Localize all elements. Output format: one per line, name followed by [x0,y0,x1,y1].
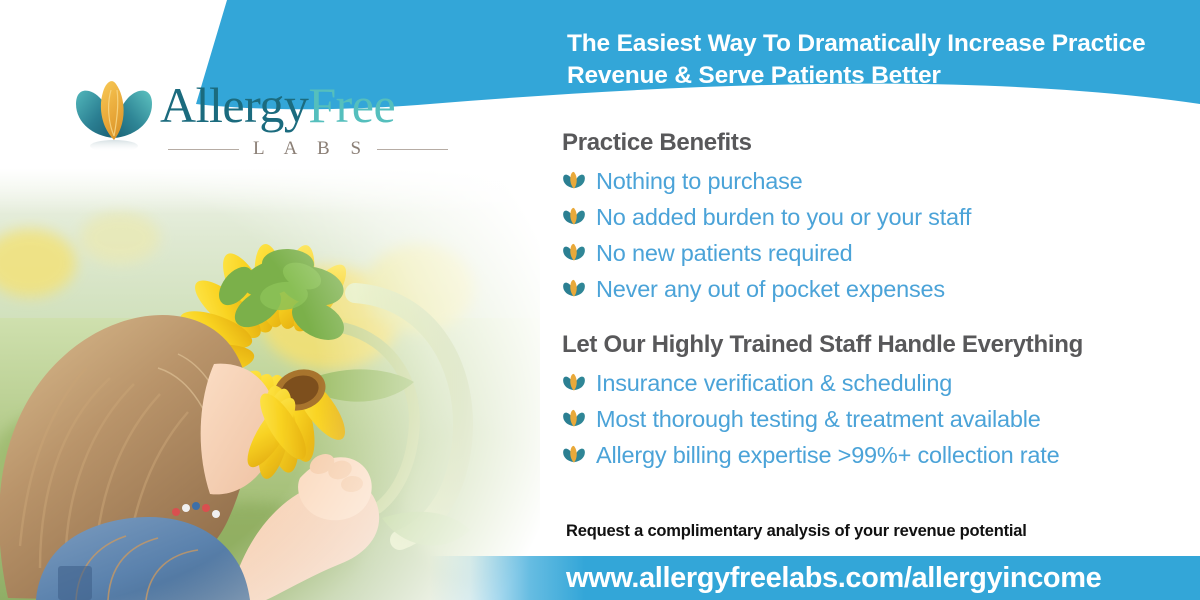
list-item: Nothing to purchase [562,166,1182,196]
orange-arc [305,0,790,29]
lotus-flower-logo-icon [72,74,156,152]
cta-text: Request a complimentary analysis of your… [566,522,1027,541]
list-item: Most thorough testing & treatment availa… [562,404,1182,434]
child-with-sunflower-illustration [0,168,540,600]
bullet-list-staff-services: Insurance verification & scheduling Most… [562,368,1182,470]
bullet-list-practice-benefits: Nothing to purchase No added burden to y… [562,166,1182,304]
allergy-free-labs-logo[interactable]: AllergyFree L A B S [72,72,452,177]
website-url-link[interactable]: www.allergyfreelabs.com/allergyincome [566,560,1101,596]
bullet-label: Most thorough testing & treatment availa… [596,406,1041,432]
labs-rule-left [168,149,239,150]
lotus-bullet-icon [562,277,586,301]
list-item: No new patients required [562,238,1182,268]
lotus-bullet-icon [562,443,586,467]
labs-rule-right [377,149,448,150]
lotus-bullet-icon [562,205,586,229]
list-item: Allergy billing expertise >99%+ collecti… [562,440,1182,470]
banner-headline: The Easiest Way To Dramatically Increase… [567,28,1187,93]
bullet-label: Allergy billing expertise >99%+ collecti… [596,442,1059,468]
bullet-label: Never any out of pocket expenses [596,276,945,302]
section-heading-staff-handles-everything: Let Our Highly Trained Staff Handle Ever… [562,330,1182,360]
lotus-bullet-icon [562,169,586,193]
lotus-bullet-icon [562,407,586,431]
section-heading-practice-benefits: Practice Benefits [562,128,1182,158]
logo-word-free: Free [308,77,395,133]
bullet-label: No new patients required [596,240,852,266]
logo-tagline-row: L A B S [168,138,448,160]
list-item: Never any out of pocket expenses [562,274,1182,304]
list-item: No added burden to you or your staff [562,202,1182,232]
benefits-content: Practice Benefits Nothing to purchase No… [562,128,1182,476]
lotus-bullet-icon [562,241,586,265]
logo-tagline-labs: L A B S [247,138,369,160]
list-item: Insurance verification & scheduling [562,368,1182,398]
marketing-banner: AllergyFree L A B S The Easiest Way To D… [0,0,1200,600]
bullet-label: Insurance verification & scheduling [596,370,952,396]
logo-wordmark: AllergyFree [160,76,395,134]
bullet-label: Nothing to purchase [596,168,803,194]
lotus-bullet-icon [562,371,586,395]
hero-photo [0,168,540,600]
logo-word-allergy: Allergy [160,77,308,133]
bullet-label: No added burden to you or your staff [596,204,971,230]
